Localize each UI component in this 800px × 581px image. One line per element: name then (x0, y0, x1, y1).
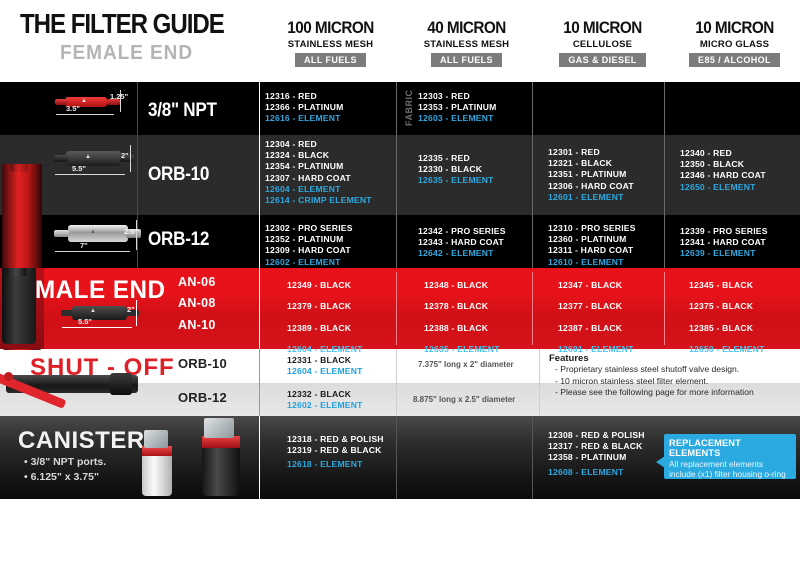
cell-male-col1: 12349 - BLACK 12379 - BLACK 12389 - BLAC… (287, 275, 363, 360)
cell-orb12-col1: 12302 - PRO SERIES 12352 - PLATINUM 1230… (265, 223, 396, 268)
callout-body-line-2: include (x1) filter housing o-ring (669, 469, 791, 479)
cell-canister-col1: 12318 - RED & POLISH 12319 - RED & BLACK… (287, 434, 384, 471)
cell-orb12-col4: 12339 - PRO SERIES 12341 - HARD COAT 126… (680, 226, 768, 260)
shutoff-photo (0, 366, 145, 416)
feature-line-3: - Please see the following page for more… (555, 387, 754, 399)
shutoff-orb10-dims: 7.375" long x 2" diameter (418, 360, 514, 369)
row-label-orb12: ORB-12 (148, 229, 209, 251)
divider-col1 (396, 82, 397, 268)
dim-line-male-diameter (136, 300, 137, 326)
divider-canister-col1 (396, 416, 397, 499)
size-label-an10: AN-10 (178, 318, 216, 332)
cell-orb12-col2: 12342 - PRO SERIES 12343 - HARD COAT 126… (418, 226, 506, 260)
column-header-2: 40 MICRON STAINLESS MESH ALL FUELS (401, 18, 532, 78)
cell-canister-col3: 12308 - RED & POLISH 12317 - RED & BLACK… (548, 430, 645, 478)
callout-body-line-1: All replacement elements (669, 459, 791, 469)
canister-bullet-2: • 6.125" x 3.75" (24, 471, 99, 483)
cell-npt-col1: 12316 - RED 12366 - PLATINUM 12616 - ELE… (265, 91, 396, 125)
canister-photo-polish (130, 422, 190, 498)
dim-line-male-length (62, 327, 132, 328)
column-3-material: CELLULOSE (537, 39, 668, 50)
cell-orb10-col3: 12301 - RED 12321 - BLACK 12351 - PLATIN… (548, 147, 634, 203)
column-1-fuel-badge: ALL FUELS (295, 53, 366, 67)
divider-red-col2 (532, 272, 533, 345)
cell-orb10-col4: 12340 - RED 12350 - BLACK 12346 - HARD C… (680, 148, 766, 193)
divider-canister-col2 (532, 416, 533, 499)
column-3-micron: 10 MICRON (544, 18, 662, 38)
column-1-micron: 100 MICRON (272, 18, 390, 38)
replacement-elements-callout: REPLACEMENT ELEMENTS All replacement ele… (664, 434, 796, 479)
cell-shutoff-orb12-parts: 12332 - BLACK 12602 - ELEMENT (287, 389, 363, 411)
dim-line-orb10-length (55, 174, 125, 175)
cell-male-col3: 12347 - BLACK 12377 - BLACK 12387 - BLAC… (558, 275, 634, 360)
cell-orb10-col2: 12335 - RED 12330 - BLACK 12635 - ELEMEN… (418, 153, 494, 187)
feature-line-1: - Proprietary stainless steel shutoff va… (555, 364, 754, 376)
dim-orb10-length: 5.5" (72, 164, 86, 173)
fabric-note: FABRIC (404, 90, 414, 127)
column-2-fuel-badge: ALL FUELS (431, 53, 502, 67)
dim-line-orb12-length (55, 251, 130, 252)
size-label-an08: AN-08 (178, 296, 216, 310)
dim-orb12-length: 7" (80, 241, 88, 250)
dim-line-npt-length (56, 114, 114, 115)
divider-red-col0 (259, 268, 260, 349)
dim-npt-diameter: 1.25" (110, 92, 128, 101)
cell-orb12-col3: 12310 - PRO SERIES 12360 - PLATINUM 1231… (548, 223, 636, 268)
cell-shutoff-orb10-parts: 12331 - BLACK 12604 - ELEMENT (287, 355, 363, 377)
column-header-3: 10 MICRON CELLULOSE GAS & DIESEL (537, 18, 668, 78)
column-4-fuel-badge: E85 / ALCOHOL (689, 53, 780, 67)
dim-orb12-diameter: 2.5" (124, 227, 138, 236)
divider-shutoff-col0 (259, 349, 260, 416)
dim-male-length: 5.5" (78, 317, 92, 326)
cell-npt-col2: 12303 - RED 12353 - PLATINUM 12603 - ELE… (418, 91, 497, 125)
divider-red-col3 (664, 272, 665, 345)
section-heading-male-end: MALE END (35, 276, 166, 305)
size-label-shutoff-orb12: ORB-12 (178, 390, 227, 405)
cell-male-col2: 12348 - BLACK 12378 - BLACK 12388 - BLAC… (424, 275, 500, 360)
size-label-shutoff-orb10: ORB-10 (178, 356, 227, 371)
column-header-4: 10 MICRON MICRO GLASS E85 / ALCOHOL (669, 18, 800, 78)
section-heading-canister: CANISTER (18, 427, 145, 455)
column-header-1: 100 MICRON STAINLESS MESH ALL FUELS (265, 18, 396, 78)
dim-npt-length: 3.5" (66, 104, 80, 113)
cell-orb10-col1: 12304 - RED 12324 - BLACK 12354 - PLATIN… (265, 139, 396, 206)
divider-col2 (532, 82, 533, 268)
filter-guide-sheet: THE FILTER GUIDE FEMALE END 100 MICRON S… (0, 0, 800, 499)
column-4-micron: 10 MICRON (676, 18, 794, 38)
divider-col3 (664, 82, 665, 268)
column-2-micron: 40 MICRON (408, 18, 526, 38)
cell-male-col4: 12345 - BLACK 12375 - BLACK 12385 - BLAC… (689, 275, 765, 360)
header: THE FILTER GUIDE FEMALE END 100 MICRON S… (0, 0, 800, 82)
column-4-material: MICRO GLASS (669, 39, 800, 50)
divider-red-col1 (396, 272, 397, 345)
canister-bullet-1: • 3/8" NPT ports. (24, 456, 106, 468)
column-3-fuel-badge: GAS & DIESEL (559, 53, 645, 67)
row-label-npt: 3/8" NPT (148, 100, 217, 122)
divider-shutoff-features (539, 349, 540, 416)
section-subtitle-female-end: FEMALE END (60, 42, 193, 65)
column-1-material: STAINLESS MESH (265, 39, 396, 50)
dim-male-diameter: 2" (127, 305, 135, 314)
dim-orb10-diameter: 2" (121, 151, 129, 160)
row-label-orb10: ORB-10 (148, 164, 209, 186)
dim-line-orb10-diameter (130, 145, 131, 172)
page-title: THE FILTER GUIDE (20, 8, 224, 40)
canister-photo-black (190, 414, 260, 498)
divider-col0 (259, 82, 260, 268)
divider-shutoff-col1 (396, 349, 397, 416)
column-2-material: STAINLESS MESH (401, 39, 532, 50)
callout-title: REPLACEMENT ELEMENTS (669, 438, 791, 458)
features-block: Features - Proprietary stainless steel s… (549, 353, 754, 399)
feature-line-2: - 10 micron stainless steel filter eleme… (555, 376, 754, 388)
shutoff-orb12-dims: 8.875" long x 2.5" diameter (413, 395, 515, 404)
size-label-an06: AN-06 (178, 275, 216, 289)
features-title: Features (549, 353, 754, 364)
